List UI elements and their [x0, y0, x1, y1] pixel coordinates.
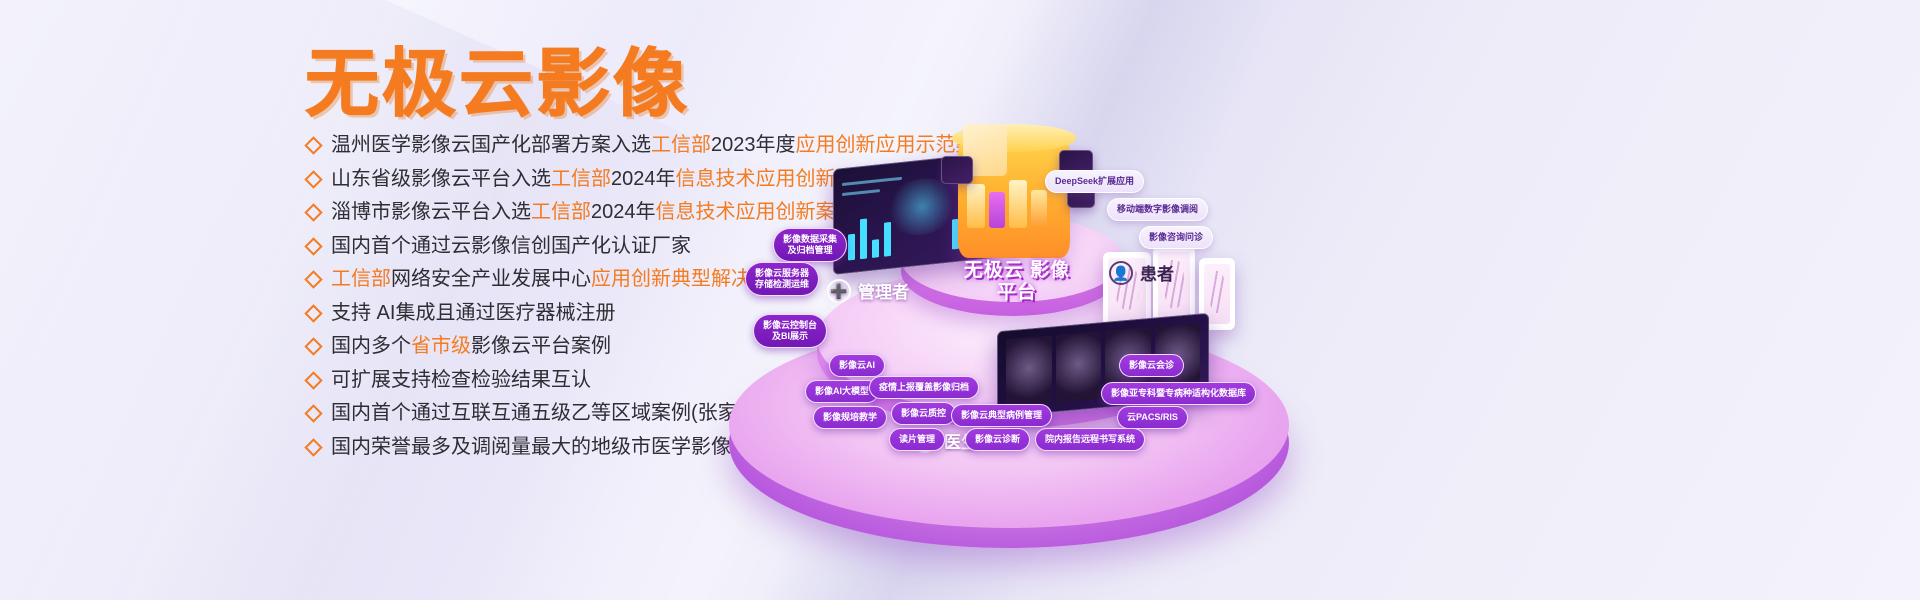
capability-pill: DeepSeek扩展应用 — [1045, 170, 1144, 193]
plain-segment: 淄博市影像云平台入选 — [331, 201, 531, 223]
highlight-segment: 工信部 — [651, 134, 711, 156]
feature-bullet-text: 可扩展支持检查检验结果互认 — [331, 364, 591, 398]
capability-pill: 影像云典型病例管理 — [951, 404, 1052, 427]
plain-segment: 2024年 — [591, 201, 656, 223]
plain-segment: 温州医学影像云国产化部署方案入选 — [331, 134, 651, 156]
diamond-bullet-icon — [304, 371, 322, 389]
plus-circle-icon: ➕ — [827, 279, 851, 303]
diamond-bullet-icon — [304, 337, 322, 355]
diamond-bullet-icon — [304, 237, 322, 255]
capability-pill: 院内报告远程书写系统 — [1035, 428, 1145, 451]
capability-pill: 影像AI大模型 — [805, 380, 879, 403]
plain-segment: 影像云平台案例 — [471, 335, 611, 357]
plain-segment: 国内首个通过云影像信创国产化认证厂家 — [331, 235, 691, 257]
plain-segment: 2024年 — [611, 168, 676, 190]
diamond-bullet-icon — [304, 203, 322, 221]
capability-pill: 影像亚专科暨专病种适构化数据库 — [1101, 382, 1256, 405]
role-label-admin: 管理者 — [858, 278, 909, 303]
highlight-segment: 工信部 — [531, 201, 591, 223]
capability-pill: 疫情上报覆盖影像归档 — [869, 376, 979, 399]
platform-architecture-diagram: 无极云 影像平台 ➕ 管理者 ⚕ 医生 👤 患者 DeepSeek扩展应用移动端… — [705, 110, 1305, 570]
feature-bullet-text: 国内首个通过云影像信创国产化认证厂家 — [331, 230, 691, 264]
diamond-bullet-icon — [304, 136, 322, 154]
capability-pill: 影像咨询问诊 — [1139, 226, 1213, 249]
capability-pill: 影像数据采集 及归档管理 — [773, 228, 847, 262]
capability-pill: 移动端数字影像调阅 — [1107, 198, 1208, 221]
plain-segment: 可扩展支持检查检验结果互认 — [331, 369, 591, 391]
capability-pill: 影像云质控 — [891, 402, 956, 425]
plain-segment: 支持 AI集成且通过医疗器械注册 — [331, 302, 615, 324]
capability-pill: 影像规培教学 — [813, 406, 887, 429]
capability-pill: 读片管理 — [889, 428, 945, 451]
person-icon: 👤 — [1109, 261, 1133, 285]
core-screen-tile — [941, 156, 973, 184]
feature-bullet-text: 支持 AI集成且通过医疗器械注册 — [331, 297, 615, 331]
platform-center-label: 无极云 影像平台 — [957, 260, 1077, 304]
diamond-bullet-icon — [304, 270, 322, 288]
capability-pill: 影像云会诊 — [1119, 354, 1184, 377]
capability-pill: 影像云服务器 存储检测运维 — [745, 262, 819, 296]
role-label-patient: 患者 — [1140, 260, 1174, 285]
diamond-bullet-icon — [304, 304, 322, 322]
diamond-bullet-icon — [304, 438, 322, 456]
plain-segment: 山东省级影像云平台入选 — [331, 168, 551, 190]
highlight-segment: 工信部 — [331, 268, 391, 290]
feature-bullet-text: 国内首个通过互联互通五级乙等区域案例(张家港) — [331, 397, 764, 431]
capability-pill: 影像云诊断 — [965, 428, 1030, 451]
capability-pill: 影像云控制台 及BI展示 — [753, 314, 827, 348]
plain-segment: 网络安全产业发展中心 — [391, 268, 591, 290]
diamond-bullet-icon — [304, 170, 322, 188]
role-badge-patient: 👤 患者 — [1109, 260, 1174, 285]
promo-banner: 无极云影像 温州医学影像云国产化部署方案入选工信部2023年度应用创新应用示范案… — [0, 0, 1920, 600]
capability-pill: 云PACS/RIS — [1117, 406, 1188, 429]
page-title: 无极云影像 — [305, 24, 690, 131]
plain-segment: 国内首个通过互联互通五级乙等区域案例(张家港) — [331, 402, 764, 424]
highlight-segment: 省市级 — [411, 335, 471, 357]
plain-segment: 国内多个 — [331, 335, 411, 357]
role-badge-admin: ➕ 管理者 — [827, 278, 909, 303]
capability-pill: 影像云AI — [829, 354, 885, 377]
feature-bullet-text: 国内多个省市级影像云平台案例 — [331, 330, 611, 364]
highlight-segment: 工信部 — [551, 168, 611, 190]
diamond-bullet-icon — [304, 404, 322, 422]
